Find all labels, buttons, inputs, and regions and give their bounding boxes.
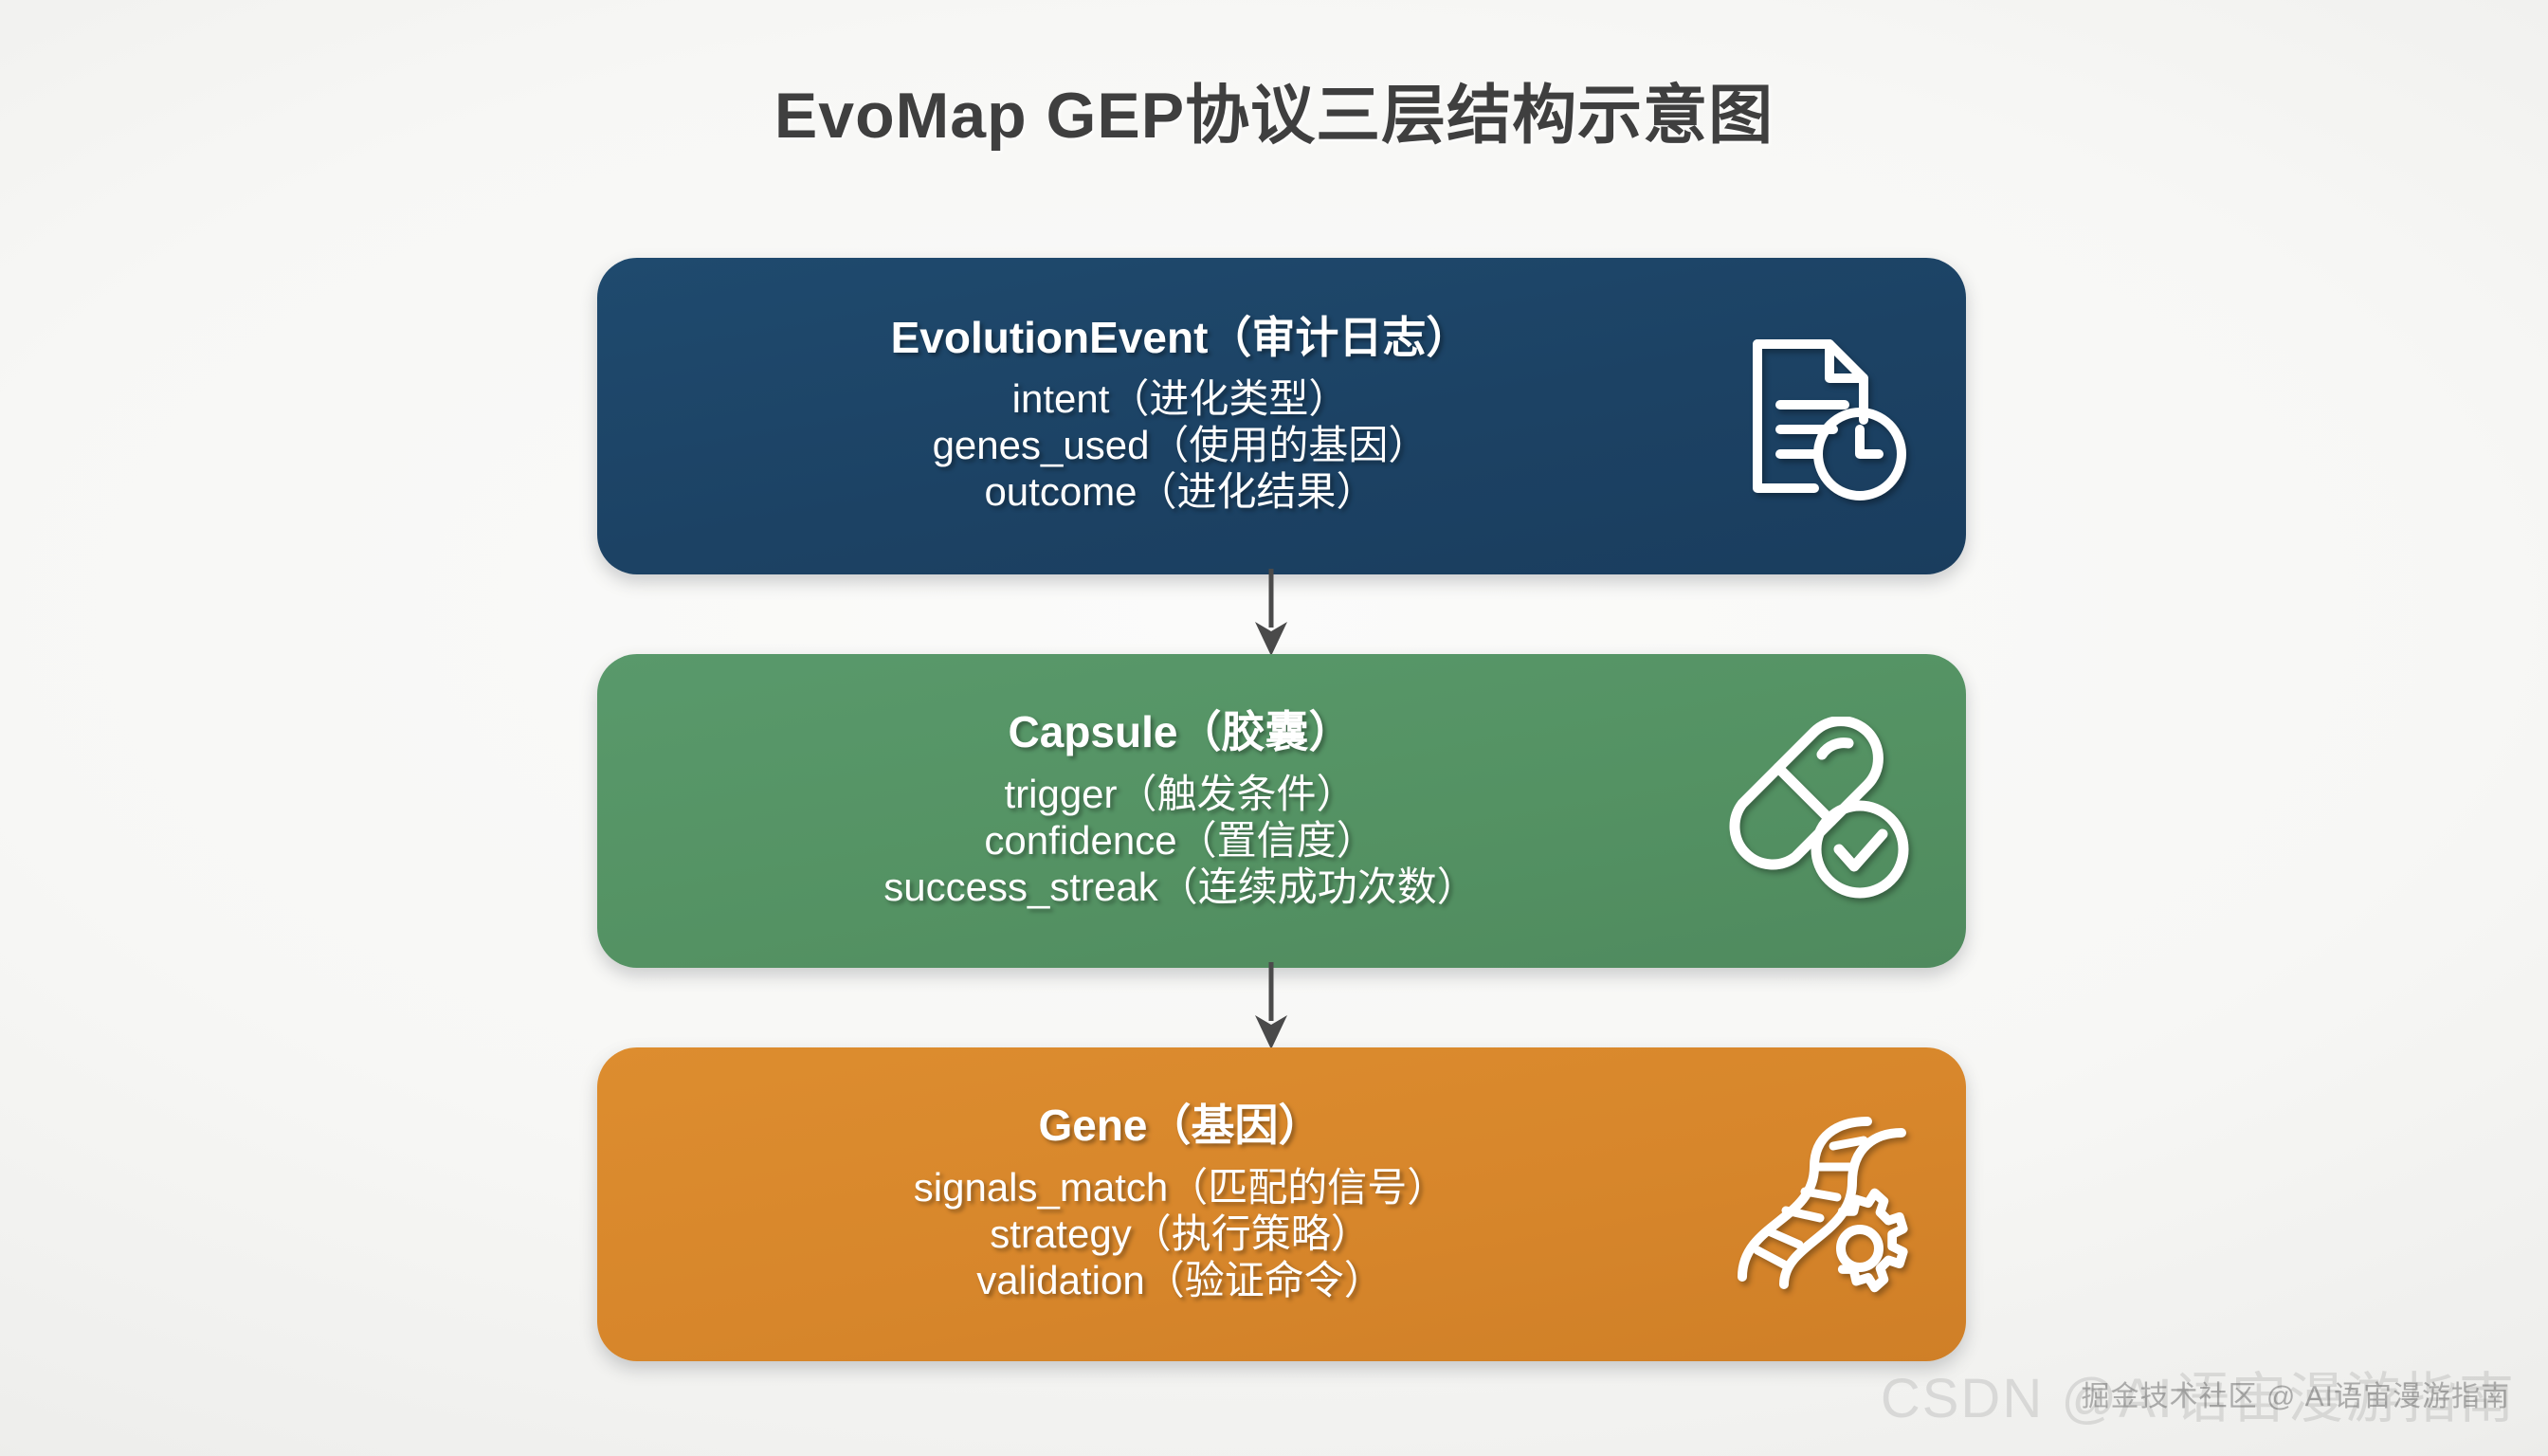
layer-field-success-streak: success_streak（连续成功次数） [883, 864, 1476, 910]
document-clock-icon [1727, 321, 1917, 511]
layer-text-capsule: Capsule（胶囊） trigger（触发条件） confidence（置信度… [597, 654, 1763, 968]
layer-box-capsule: Capsule（胶囊） trigger（触发条件） confidence（置信度… [597, 654, 1966, 968]
layer-field-intent: intent（进化类型） [1012, 375, 1349, 422]
arrow-capsule-to-gene [1247, 962, 1295, 1053]
layer-title-evolution-event: EvolutionEvent（审计日志） [891, 314, 1470, 363]
page-title: EvoMap GEP协议三层结构示意图 [0, 63, 2548, 156]
layer-box-gene: Gene（基因） signals_match（匹配的信号） strategy（执… [597, 1047, 1966, 1361]
layer-field-signals-match: signals_match（匹配的信号） [914, 1164, 1447, 1210]
layer-field-outcome: outcome（进化结果） [984, 468, 1375, 515]
layer-text-evolution-event: EvolutionEvent（审计日志） intent（进化类型） genes_… [597, 258, 1763, 574]
dna-gear-icon [1727, 1110, 1917, 1300]
diagram-canvas: EvoMap GEP协议三层结构示意图 EvolutionEvent（审计日志）… [0, 0, 2548, 1456]
layer-field-genes-used: genes_used（使用的基因） [933, 422, 1429, 468]
layer-text-gene: Gene（基因） signals_match（匹配的信号） strategy（执… [597, 1047, 1763, 1361]
layer-field-trigger: trigger（触发条件） [1004, 771, 1356, 817]
layer-box-evolution-event: EvolutionEvent（审计日志） intent（进化类型） genes_… [597, 258, 1966, 574]
arrow-evolution-to-capsule [1247, 569, 1295, 660]
layer-title-gene: Gene（基因） [1038, 1101, 1321, 1151]
layer-field-confidence: confidence（置信度） [984, 817, 1375, 864]
capsule-check-icon [1727, 717, 1917, 906]
layer-field-strategy: strategy（执行策略） [990, 1210, 1370, 1257]
watermark-juejin: 掘金技术社区 @ AI语宙漫游指南 [2082, 1373, 2510, 1414]
layer-field-validation: validation（验证命令） [976, 1257, 1383, 1303]
layer-title-capsule: Capsule（胶囊） [1009, 708, 1353, 757]
